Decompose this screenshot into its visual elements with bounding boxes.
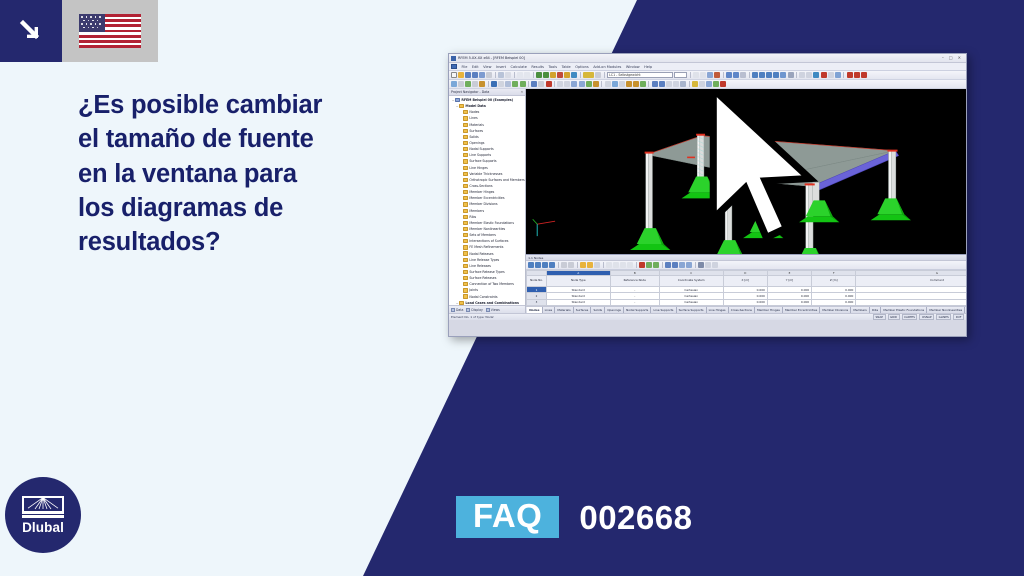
sheet-tab[interactable]: Line Supports [651, 307, 676, 313]
status-indicator[interactable]: CARTES [902, 314, 918, 320]
select-icon[interactable] [451, 81, 457, 87]
print-preview-icon[interactable] [486, 72, 492, 78]
nodal-load-icon[interactable] [512, 81, 518, 87]
sheet-tab[interactable]: Member Hinges [755, 307, 783, 313]
project-navigator: Project Navigator - Data ✕ −RFEM Beispie… [449, 89, 526, 313]
tree-item-label: Surface Releases [469, 276, 496, 280]
zoom-previous-icon[interactable] [564, 72, 570, 78]
column-header: Y [m] [767, 276, 811, 287]
zoom-all-icon[interactable] [557, 72, 563, 78]
maximize-button[interactable]: □ [949, 56, 953, 60]
folder-icon [463, 227, 468, 231]
tree-item-label: Ribs [469, 215, 476, 219]
toolbar-separator [580, 72, 581, 78]
tree-item-label: Nodes [469, 110, 479, 114]
rfem-application-window: RFEM 5.XX.XX x64 - [RFEM Beispiel 00] – … [448, 53, 967, 337]
table-first-icon[interactable] [528, 262, 534, 268]
status-indicator[interactable]: GLINES [936, 314, 951, 320]
folder-icon [463, 147, 468, 151]
headline-line-1: ¿Es posible cambiar [78, 88, 408, 122]
table-sort-icon[interactable] [594, 262, 600, 268]
toolbar-separator [749, 72, 750, 78]
close-results-icon[interactable] [821, 72, 827, 78]
deformation-icon[interactable] [700, 72, 706, 78]
sheet-tab[interactable]: Surface Supports [677, 307, 707, 313]
divide-icon[interactable] [640, 81, 646, 87]
column-header: Z [m] [812, 276, 856, 287]
tree-item-label: Joints [469, 288, 478, 292]
render-mode-icon[interactable] [583, 72, 594, 78]
navigator-header: Project Navigator - Data ✕ [449, 89, 525, 96]
extrude-icon[interactable] [605, 81, 611, 87]
status-indicator[interactable]: OSNAP [919, 314, 934, 320]
text-icon[interactable] [699, 81, 705, 87]
reset-icon[interactable] [720, 81, 726, 87]
sheet-tab[interactable]: Nodal Supports [624, 307, 651, 313]
column-header-row: Node No.Node TypeReference NodeCoordinat… [527, 276, 967, 287]
folder-icon [463, 282, 468, 286]
toolbar-separator [495, 72, 496, 78]
undo-icon[interactable] [536, 72, 542, 78]
table-import-icon[interactable] [665, 262, 671, 268]
redo-icon[interactable] [543, 72, 549, 78]
column-header: Coordinate System [659, 276, 723, 287]
tree-item-label: Surfaces [469, 129, 483, 133]
sheet-tab[interactable]: Member Nonlinearities [927, 307, 965, 313]
folder-icon [463, 251, 468, 255]
folder-icon [463, 270, 468, 274]
align-center-icon[interactable] [564, 81, 570, 87]
check-model-icon[interactable] [713, 81, 719, 87]
table-prev-icon[interactable] [535, 262, 541, 268]
view-side-icon[interactable] [759, 72, 765, 78]
model-icon[interactable] [451, 64, 457, 69]
ungroup-icon[interactable] [659, 81, 665, 87]
headline-line-3: en la ventana para [78, 157, 408, 191]
sheet-tab[interactable]: Sets of Members [965, 307, 967, 313]
print-icon[interactable] [479, 72, 485, 78]
table-next-icon[interactable] [542, 262, 548, 268]
delete-object-icon[interactable] [546, 81, 552, 87]
rfem-app-icon [451, 56, 456, 61]
load-case-select[interactable]: LC1 - Selbstgewicht [607, 72, 673, 78]
align-left-icon[interactable] [557, 81, 563, 87]
views-icon [486, 308, 490, 312]
sheet-tab[interactable]: Members [851, 307, 870, 313]
menu-item-addon-modules[interactable]: Add-on Modules [593, 65, 621, 69]
toolbar-separator [636, 262, 637, 268]
sheet-tab[interactable]: Openings [605, 307, 624, 313]
navigator-tab-display[interactable]: Display [466, 308, 482, 312]
menu-item-insert[interactable]: Insert [496, 65, 506, 69]
table-clear-icon[interactable] [639, 262, 645, 268]
headline-line-4: los diagramas de [78, 191, 408, 225]
save-icon[interactable] [465, 72, 471, 78]
tree-item-label: Intersections of Surfaces [469, 239, 508, 243]
group-icon[interactable] [652, 81, 658, 87]
menu-item-view[interactable]: View [483, 65, 491, 69]
tree-item-label: Lines [469, 116, 477, 120]
tree-item-label: Line Hinges [469, 166, 487, 170]
table-undo-icon[interactable] [606, 262, 612, 268]
sheet-tab[interactable]: Materials [555, 307, 573, 313]
menu-item-calculate[interactable]: Calculate [511, 65, 527, 69]
folder-icon [463, 153, 468, 157]
folder-icon [463, 233, 468, 237]
navigator-tree[interactable]: −RFEM Beispiel 00 (Examples)−Model DataN… [449, 96, 525, 305]
toolbar-separator [723, 72, 724, 78]
flag-graphic [79, 14, 141, 48]
material-tool-icon[interactable] [538, 81, 544, 87]
sheet-tab[interactable]: Member Eccentricities [783, 307, 820, 313]
folder-icon [463, 294, 468, 298]
folder-icon [463, 258, 468, 262]
layer-icon[interactable] [666, 81, 672, 87]
table-edit-icon[interactable] [580, 262, 586, 268]
tree-item-label: Materials [469, 123, 483, 127]
view-iso-icon[interactable] [773, 72, 779, 78]
view-settings-icon[interactable] [788, 72, 794, 78]
table-export-icon[interactable] [672, 262, 678, 268]
copy-icon[interactable] [505, 72, 511, 78]
tree-item-label: Nodal Releases [469, 252, 493, 256]
column-header: Comment [856, 276, 967, 287]
filter-icon[interactable] [673, 81, 679, 87]
diagram-icon[interactable] [714, 72, 720, 78]
folder-icon [455, 98, 460, 102]
tree-item-label: Member Nonlinearities [469, 227, 505, 231]
new-file-icon[interactable] [451, 72, 457, 78]
sheet-tab[interactable]: Member Divisions [820, 307, 851, 313]
menu-item-table[interactable]: Table [562, 65, 571, 69]
grid-icon[interactable] [806, 72, 812, 78]
status-indicator[interactable]: SNAP [873, 314, 885, 320]
sheet-tab[interactable]: Cross-Sections [729, 307, 755, 313]
folder-icon [459, 301, 464, 305]
navigator-tab-data[interactable]: Data [451, 308, 463, 312]
calculate-icon[interactable] [726, 72, 732, 78]
tree-item-label: Members [469, 209, 484, 213]
tree-item-label: Solids [469, 135, 478, 139]
menu-item-tools[interactable]: Tools [549, 65, 558, 69]
folder-icon [463, 209, 468, 213]
column-header: Node Type [546, 276, 610, 287]
tree-item-label: Connection of Two Members [469, 282, 514, 286]
folder-icon [463, 166, 468, 170]
menu-item-results[interactable]: Results [531, 65, 544, 69]
table-format-icon[interactable] [587, 262, 593, 268]
tree-item-label: Line Release Types [469, 258, 499, 262]
status-indicator[interactable]: GRID [888, 314, 900, 320]
headline-line-5: resultados? [78, 225, 408, 259]
table-last-icon[interactable] [549, 262, 555, 268]
menu-item-options[interactable]: Options [575, 65, 589, 69]
table-filter-icon[interactable] [698, 262, 704, 268]
table-head: ABCDEFG Node No.Node TypeReference NodeC… [527, 271, 967, 287]
toolbar-separator [796, 72, 797, 78]
save-all-icon[interactable] [472, 72, 478, 78]
status-bar: Element No. 1 of type 'Node' SNAPGRIDCAR… [449, 313, 966, 320]
wireframe-icon[interactable] [595, 72, 601, 78]
menu-item-window[interactable]: Window [626, 65, 640, 69]
minimize-button[interactable]: – [942, 56, 944, 60]
printout-report-icon[interactable] [740, 72, 746, 78]
scale-select[interactable] [674, 72, 687, 78]
calc-all-icon[interactable] [733, 72, 739, 78]
table-redo-icon[interactable] [613, 262, 619, 268]
surface-tool-icon[interactable] [479, 81, 485, 87]
folder-icon [463, 288, 468, 292]
tree-item-label: Member Divisions [469, 202, 497, 206]
toolbar-separator [603, 262, 604, 268]
toolbar-separator [558, 262, 559, 268]
arrow-down-right-icon [0, 0, 62, 62]
tree-item-label: Model Data [465, 104, 485, 108]
tree-item-label: Surface Supports [469, 159, 496, 163]
view-front-icon[interactable] [752, 72, 758, 78]
sheet-tab[interactable]: Surfaces [574, 307, 592, 313]
headline-line-2: el tamaño de fuente [78, 122, 408, 156]
scale-icon[interactable] [593, 81, 599, 87]
faq-badge: FAQ 002668 [456, 493, 692, 541]
table-apply-icon[interactable] [653, 262, 659, 268]
window-controls: – □ ✕ [942, 56, 964, 60]
tree-item-label: Nodal Supports [469, 147, 493, 151]
model-viewport[interactable] [526, 89, 967, 254]
folder-icon [463, 159, 468, 163]
sheet-tab[interactable]: Line Hinges [707, 307, 729, 313]
toolbar-separator [604, 72, 605, 78]
language-badge [0, 0, 158, 62]
folder-icon [463, 172, 468, 176]
folder-icon [463, 129, 468, 133]
sheet-tab[interactable]: Solids [591, 307, 605, 313]
toolbar-separator [601, 81, 602, 87]
folder-icon [463, 215, 468, 219]
toolbar-separator [533, 72, 534, 78]
measure-icon[interactable] [828, 72, 834, 78]
app-body: Project Navigator - Data ✕ −RFEM Beispie… [449, 89, 966, 313]
toolbar-separator [662, 262, 663, 268]
tree-item-label: Member Hinges [469, 190, 494, 194]
folder-icon [463, 264, 468, 268]
menu-item-file[interactable]: File [462, 65, 468, 69]
folder-icon [463, 196, 468, 200]
toolbar-separator [689, 81, 690, 87]
us-flag-icon [62, 0, 158, 62]
table-check-icon[interactable] [646, 262, 652, 268]
visibility-icon[interactable] [835, 72, 841, 78]
menu-item-edit[interactable]: Edit [472, 65, 479, 69]
column-header: Node No. [527, 276, 547, 287]
view-top-icon[interactable] [766, 72, 772, 78]
tree-item-label: Orthotropic Surfaces and Members [469, 178, 524, 182]
faq-chip-label: FAQ [456, 496, 559, 538]
folder-icon [463, 239, 468, 243]
toolbar-separator [577, 262, 578, 268]
table-panel: 1.1 Nodes ✕ [526, 254, 967, 306]
toolbar-separator [690, 72, 691, 78]
folder-icon [463, 178, 468, 182]
mirror-icon[interactable] [571, 81, 577, 87]
status-indicators: SNAPGRIDCARTESOSNAPGLINESDXF [873, 314, 964, 320]
help-tool-icon[interactable] [847, 72, 853, 78]
folder-icon [463, 276, 468, 280]
folder-icon [463, 141, 468, 145]
folder-icon [463, 190, 468, 194]
paste-icon[interactable] [517, 72, 523, 78]
dlubal-truss-icon [22, 496, 64, 518]
sheet-tab[interactable]: Nodes [527, 307, 542, 313]
cut-icon[interactable] [498, 72, 504, 78]
tree-item-label: Variable Thicknesses [469, 172, 502, 176]
nodes-sheet: ABCDEFG Node No.Node TypeReference NodeC… [526, 270, 967, 306]
data-icon [451, 308, 455, 312]
table-delete-row-icon[interactable] [568, 262, 574, 268]
move-icon[interactable] [586, 81, 592, 87]
pan-icon[interactable] [571, 72, 577, 78]
column-header: Reference Node [610, 276, 659, 287]
toolbar-separator [528, 81, 529, 87]
snap-icon[interactable] [799, 72, 805, 78]
table-toolbar [526, 261, 967, 270]
mesh-tool-icon[interactable] [531, 81, 537, 87]
table-body: 1Standard-Cartesian0.0000.0000.0002Stand… [527, 287, 967, 307]
folder-icon [463, 123, 468, 127]
table-print-icon[interactable] [679, 262, 685, 268]
tree-item[interactable]: −Load Cases and Combinations [450, 300, 525, 305]
window-title: RFEM 5.XX.XX x64 - [RFEM Beispiel 00] [458, 56, 525, 60]
tree-item-label: Load Cases and Combinations [465, 301, 518, 305]
menu-bar: File Edit View Insert Calculate Results … [449, 63, 966, 71]
tree-item-label: Line Supports [469, 153, 491, 157]
tree-item-label: Member Elastic Foundations [469, 221, 514, 225]
secondary-toolbar [449, 80, 966, 89]
folder-icon [463, 184, 468, 188]
tree-item-label: Cross-Sections [469, 184, 492, 188]
about-icon[interactable] [854, 72, 860, 78]
status-indicator[interactable]: DXF [953, 314, 964, 320]
trim-icon[interactable] [626, 81, 632, 87]
toolbar-separator [695, 262, 696, 268]
line-load-icon[interactable] [520, 81, 526, 87]
hinge-tool-icon[interactable] [498, 81, 504, 87]
folder-icon [463, 110, 468, 114]
sheet-tab[interactable]: Ribs [870, 307, 881, 313]
column-header: X [m] [723, 276, 767, 287]
rotate-icon[interactable] [579, 81, 585, 87]
tree-item-label: FE Mesh Refinements [469, 245, 503, 249]
member-tool-icon[interactable] [472, 81, 478, 87]
display-icon [466, 308, 470, 312]
status-text: Element No. 1 of type 'Node' [451, 315, 494, 319]
main-toolbar: LC1 - Selbstgewicht [449, 71, 966, 80]
folder-icon [463, 202, 468, 206]
navigator-tabs: Data Display Views [449, 305, 525, 313]
open-file-icon[interactable] [458, 72, 464, 78]
folder-icon [463, 245, 468, 249]
comment-icon[interactable] [706, 81, 712, 87]
table-find-icon[interactable] [705, 262, 711, 268]
tree-item-label: Nodal Constraints [469, 295, 497, 299]
sheet-tab[interactable]: Lines [543, 307, 556, 313]
load-tool-icon[interactable] [505, 81, 511, 87]
menu-item-help[interactable]: Help [644, 65, 652, 69]
folder-icon [463, 116, 468, 120]
faq-number: 002668 [579, 501, 692, 534]
toolbar-separator [648, 81, 649, 87]
dimension-icon[interactable] [692, 81, 698, 87]
toolbar-separator [843, 72, 844, 78]
tree-item-label: Line Releases [469, 264, 491, 268]
navigator-tab-label: Views [491, 308, 500, 312]
table-copy-icon[interactable] [627, 262, 633, 268]
toolbar-separator [514, 72, 515, 78]
view-rotate-icon[interactable] [780, 72, 786, 78]
tree-item-label: RFEM Beispiel 00 (Examples) [461, 98, 513, 102]
support-tool-icon[interactable] [491, 81, 497, 87]
sheet-tab-bar[interactable]: NodesLinesMaterialsSurfacesSolidsOpening… [526, 306, 967, 313]
display-props-icon[interactable] [680, 81, 686, 87]
workspace: 1.1 Nodes ✕ [526, 89, 967, 313]
zoom-window-icon[interactable] [550, 72, 556, 78]
table-settings-icon[interactable] [686, 262, 692, 268]
tree-item-label: Sets of Members [469, 233, 496, 237]
tree-item-label: Openings [469, 141, 484, 145]
toolbar-separator [554, 81, 555, 87]
navigator-tab-views[interactable]: Views [486, 308, 500, 312]
page-title: ¿Es posible cambiar el tamaño de fuente … [78, 88, 408, 259]
navigator-close-icon[interactable]: ✕ [521, 90, 524, 94]
tree-item-label: Member Eccentricities [469, 196, 504, 200]
sheet-tab[interactable]: Member Elastic Foundations [881, 307, 927, 313]
table-help-icon[interactable] [712, 262, 718, 268]
navigator-tab-label: Display [471, 308, 482, 312]
folder-icon [459, 104, 464, 108]
array-icon[interactable] [619, 81, 625, 87]
navigator-tab-label: Data [456, 308, 463, 312]
delete-icon[interactable] [524, 72, 530, 78]
toolbar-separator [488, 81, 489, 87]
window-titlebar[interactable]: RFEM 5.XX.XX x64 - [RFEM Beispiel 00] – … [449, 54, 966, 63]
close-button[interactable]: ✕ [958, 56, 961, 60]
copy-object-icon[interactable] [612, 81, 618, 87]
extend-icon[interactable] [633, 81, 639, 87]
dlubal-logo: Dlubal [5, 477, 81, 553]
table-cut-icon[interactable] [620, 262, 626, 268]
nodes-table[interactable]: ABCDEFG Node No.Node TypeReference NodeC… [526, 270, 967, 306]
sections-icon[interactable] [707, 72, 713, 78]
navigator-title: Project Navigator - Data [451, 90, 489, 94]
folder-icon [463, 221, 468, 225]
table-title: 1.1 Nodes [528, 256, 543, 260]
table-insert-row-icon[interactable] [561, 262, 567, 268]
node-tool-icon[interactable] [458, 81, 464, 87]
results-on-off-icon[interactable] [693, 72, 699, 78]
mouse-pointer-icon [526, 89, 967, 254]
tree-item-label: Surface Release Types [469, 270, 504, 274]
dlubal-wordmark: Dlubal [22, 520, 64, 535]
info-icon[interactable] [861, 72, 867, 78]
object-info-icon[interactable] [813, 72, 819, 78]
line-tool-icon[interactable] [465, 81, 471, 87]
folder-icon [463, 135, 468, 139]
